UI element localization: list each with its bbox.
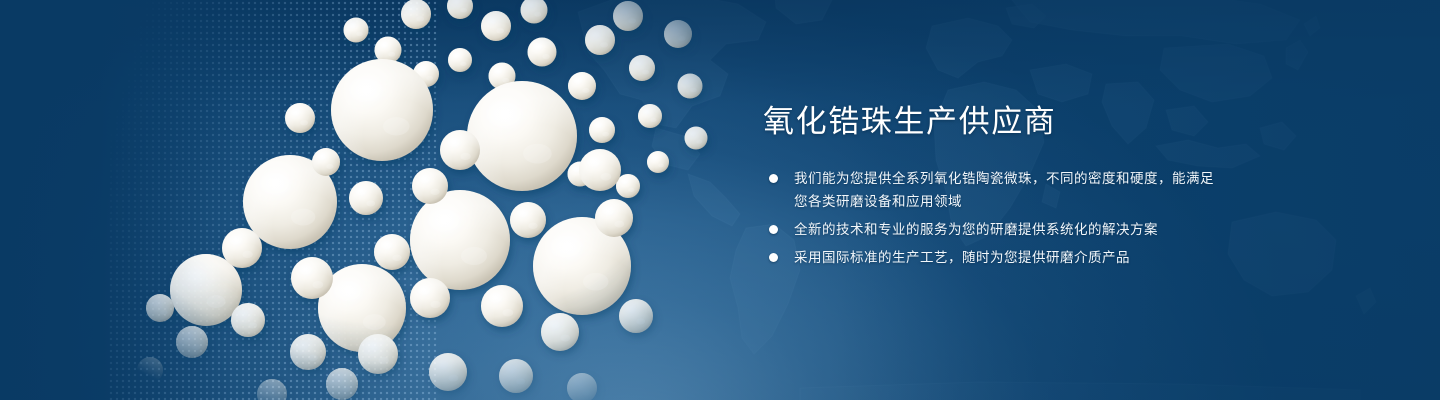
- bullet-dot-icon: [769, 253, 778, 262]
- hero-banner: 氧化锆珠生产供应商 我们能为您提供全系列氧化锆陶瓷微珠，不同的密度和硬度，能满足…: [0, 0, 1440, 400]
- list-item: 全新的技术和专业的服务为您的研磨提供系统化的解决方案: [763, 218, 1224, 241]
- list-item-label: 采用国际标准的生产工艺，随时为您提供研磨介质产品: [794, 250, 1130, 265]
- list-item-label: 我们能为您提供全系列氧化锆陶瓷微珠，不同的密度和硬度，能满足您各类研磨设备和应用…: [794, 171, 1214, 209]
- banner-copy: 氧化锆珠生产供应商 我们能为您提供全系列氧化锆陶瓷微珠，不同的密度和硬度，能满足…: [763, 104, 1323, 269]
- bullet-dot-icon: [769, 225, 778, 234]
- feature-list: 我们能为您提供全系列氧化锆陶瓷微珠，不同的密度和硬度，能满足您各类研磨设备和应用…: [763, 167, 1323, 269]
- list-item: 采用国际标准的生产工艺，随时为您提供研磨介质产品: [763, 246, 1224, 269]
- bullet-dot-icon: [769, 174, 778, 183]
- page-title: 氧化锆珠生产供应商: [763, 104, 1323, 141]
- list-item-label: 全新的技术和专业的服务为您的研磨提供系统化的解决方案: [794, 222, 1158, 237]
- zirconia-bead-image: [130, 0, 750, 400]
- list-item: 我们能为您提供全系列氧化锆陶瓷微珠，不同的密度和硬度，能满足您各类研磨设备和应用…: [763, 167, 1224, 213]
